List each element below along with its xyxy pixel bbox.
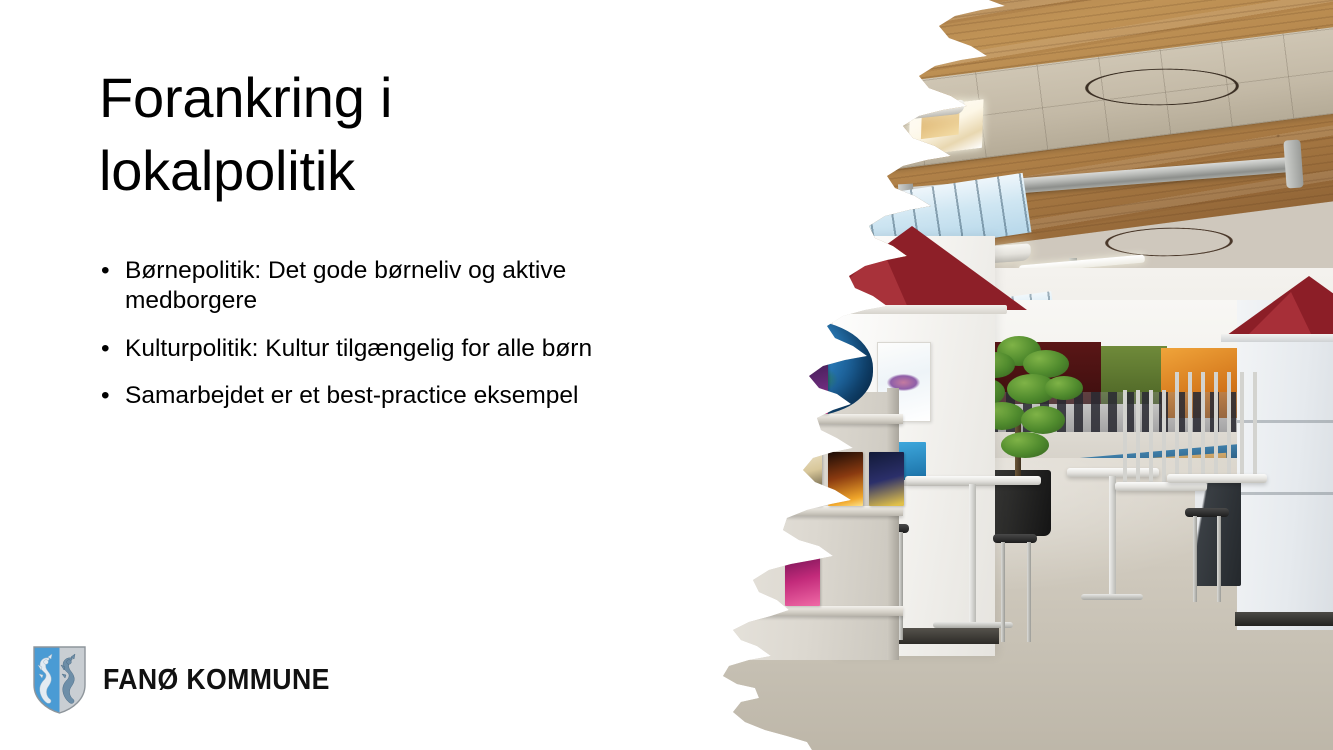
bullet-marker-icon: •	[101, 256, 110, 286]
table-foot	[1081, 594, 1143, 600]
stool-leg	[1193, 516, 1197, 602]
leaf	[1045, 376, 1083, 400]
stool-seat	[1185, 508, 1229, 517]
book-cover	[752, 360, 787, 414]
stool-leg	[1027, 542, 1031, 642]
pendant-stem	[909, 74, 917, 106]
book-cover	[787, 452, 822, 506]
upturned-table-top	[1115, 482, 1207, 491]
bullet-list: • Børnepolitik: Det gode børneliv og akt…	[99, 256, 599, 412]
coat-of-arms-shield-icon	[32, 645, 87, 715]
bullet-marker-icon: •	[101, 334, 110, 364]
slide-text-column: Forankring i lokalpolitik • Børnepolitik…	[0, 0, 640, 750]
stool-leg	[1217, 516, 1221, 602]
shelf-board	[703, 606, 903, 616]
book-cover	[705, 452, 740, 506]
shelf-board	[703, 414, 903, 424]
leaf	[1001, 432, 1049, 458]
globe	[733, 320, 873, 416]
fano-kommune-logo: FANØ KOMMUNE	[32, 645, 349, 715]
list-item-label: Kulturpolitik: Kultur tilgængelig for al…	[125, 335, 592, 362]
table-leg	[969, 484, 976, 624]
list-item: • Samarbejdet er et best-practice eksemp…	[99, 381, 599, 411]
book-cover	[746, 452, 781, 506]
photo-canvas	[637, 0, 1333, 750]
shelf-backboard	[887, 388, 899, 660]
roof-highlight	[1245, 292, 1313, 338]
red-pyramid-roof	[797, 226, 1027, 310]
table-leg	[1109, 476, 1116, 596]
book-row	[785, 552, 820, 606]
skylight	[908, 99, 983, 157]
book-cover	[793, 360, 828, 414]
logo-wordmark: FANØ KOMMUNE	[103, 664, 330, 697]
book-row	[711, 360, 828, 414]
book-cover	[785, 552, 820, 606]
roof-eave	[1221, 334, 1333, 342]
list-item: • Kulturpolitik: Kultur tilgængelig for …	[99, 334, 599, 364]
shelf-board	[703, 506, 903, 516]
book-cover	[711, 360, 746, 414]
roof-highlight	[819, 246, 909, 310]
stool-leg	[899, 532, 903, 640]
strip-light	[684, 88, 859, 123]
leaf	[1021, 406, 1065, 434]
book-display-shelf-unit	[709, 392, 899, 660]
list-item-label: Børnepolitik: Det gode børneliv og aktiv…	[125, 257, 566, 314]
book-row	[705, 452, 904, 506]
upturned-table-top	[1167, 474, 1267, 483]
tower-base-trim	[1235, 612, 1333, 626]
ring-light-fixture	[1101, 226, 1238, 258]
roof-eave	[789, 305, 1007, 314]
list-item-label: Samarbejdet er et best-practice eksempel	[125, 382, 578, 409]
list-item: • Børnepolitik: Det gode børneliv og akt…	[99, 256, 599, 317]
stool-leg	[1001, 542, 1005, 642]
upturned-table-legs	[1175, 372, 1261, 476]
book-cover	[869, 452, 904, 506]
book-cover	[828, 452, 863, 506]
duct-elbow	[1283, 139, 1303, 188]
tower-panel-line	[1237, 492, 1333, 495]
presentation-slide: Forankring i lokalpolitik • Børnepolitik…	[0, 0, 1333, 750]
library-interior-photo	[637, 0, 1333, 750]
page-title: Forankring i lokalpolitik	[99, 62, 619, 208]
bullet-marker-icon: •	[101, 381, 110, 411]
